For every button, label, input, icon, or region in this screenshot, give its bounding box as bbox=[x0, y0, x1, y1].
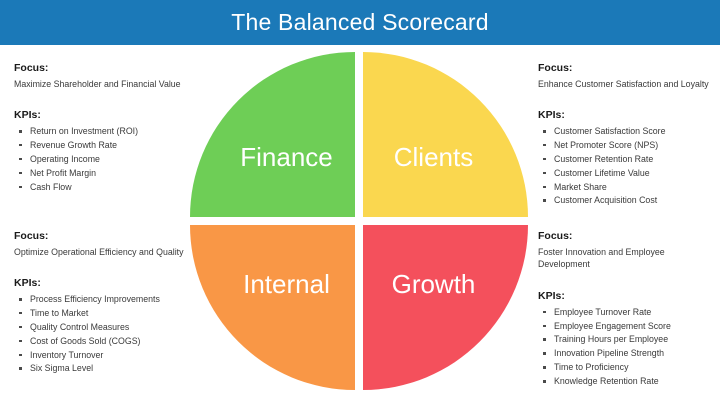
bullet-icon bbox=[543, 366, 546, 369]
kpi-item-label: Inventory Turnover bbox=[30, 350, 103, 360]
kpi-item-label: Quality Control Measures bbox=[30, 322, 129, 332]
panel-finance-focus-heading: Focus: bbox=[14, 62, 192, 75]
kpi-item: Revenue Growth Rate bbox=[14, 139, 192, 153]
panel-growth-focus-heading: Focus: bbox=[538, 230, 716, 243]
kpi-item-label: Time to Proficiency bbox=[554, 362, 628, 372]
kpi-item: Net Profit Margin bbox=[14, 167, 192, 181]
panel-internal-focus-heading: Focus: bbox=[14, 230, 192, 243]
kpi-item-label: Customer Lifetime Value bbox=[554, 168, 650, 178]
kpi-item: Employee Turnover Rate bbox=[538, 306, 716, 320]
kpi-item: Inventory Turnover bbox=[14, 349, 192, 363]
kpi-item-label: Six Sigma Level bbox=[30, 363, 93, 373]
kpi-item: Quality Control Measures bbox=[14, 321, 192, 335]
kpi-item: Customer Satisfaction Score bbox=[538, 125, 716, 139]
bullet-icon bbox=[19, 158, 22, 161]
kpi-item: Customer Retention Rate bbox=[538, 153, 716, 167]
bullet-icon bbox=[19, 312, 22, 315]
kpi-item-label: Time to Market bbox=[30, 308, 88, 318]
bullet-icon bbox=[543, 199, 546, 202]
kpi-item: Cash Flow bbox=[14, 181, 192, 195]
kpi-item-label: Cash Flow bbox=[30, 182, 72, 192]
panel-internal-kpi-list: Process Efficiency ImprovementsTime to M… bbox=[14, 293, 192, 376]
quadrant-finance[interactable]: Finance bbox=[190, 52, 355, 217]
bullet-icon bbox=[19, 172, 22, 175]
kpi-item-label: Revenue Growth Rate bbox=[30, 140, 117, 150]
kpi-item: Process Efficiency Improvements bbox=[14, 293, 192, 307]
panel-clients-focus-heading: Focus: bbox=[538, 62, 716, 75]
kpi-item-label: Cost of Goods Sold (COGS) bbox=[30, 336, 141, 346]
bullet-icon bbox=[19, 298, 22, 301]
kpi-item-label: Net Profit Margin bbox=[30, 168, 96, 178]
panel-clients: Focus: Enhance Customer Satisfaction and… bbox=[538, 62, 716, 208]
kpi-item-label: Employee Turnover Rate bbox=[554, 307, 651, 317]
panel-growth-kpi-list: Employee Turnover RateEmployee Engagemen… bbox=[538, 306, 716, 389]
kpi-item: Market Share bbox=[538, 181, 716, 195]
bullet-icon bbox=[543, 158, 546, 161]
panel-internal-focus-text: Optimize Operational Efficiency and Qual… bbox=[14, 246, 192, 259]
bullet-icon bbox=[543, 380, 546, 383]
kpi-item-label: Net Promoter Score (NPS) bbox=[554, 140, 658, 150]
kpi-item: Innovation Pipeline Strength bbox=[538, 347, 716, 361]
scorecard-stage: Finance Clients Internal Growth Focus: M… bbox=[0, 45, 720, 404]
bullet-icon bbox=[543, 338, 546, 341]
page-title: The Balanced Scorecard bbox=[231, 11, 489, 34]
kpi-item-label: Innovation Pipeline Strength bbox=[554, 348, 664, 358]
kpi-item-label: Knowledge Retention Rate bbox=[554, 376, 659, 386]
panel-growth-kpis-heading: KPIs: bbox=[538, 290, 716, 303]
kpi-item-label: Process Efficiency Improvements bbox=[30, 294, 160, 304]
quadrant-internal-label: Internal bbox=[243, 271, 330, 297]
bullet-icon bbox=[543, 311, 546, 314]
panel-finance-kpis-heading: KPIs: bbox=[14, 109, 192, 122]
bullet-icon bbox=[19, 144, 22, 147]
bullet-icon bbox=[543, 325, 546, 328]
kpi-item: Training Hours per Employee bbox=[538, 333, 716, 347]
bullet-icon bbox=[543, 186, 546, 189]
panel-finance-focus-text: Maximize Shareholder and Financial Value bbox=[14, 78, 192, 91]
kpi-item-label: Customer Acquisition Cost bbox=[554, 195, 657, 205]
kpi-item: Customer Lifetime Value bbox=[538, 167, 716, 181]
panel-growth-focus-text: Foster Innovation and Employee Developme… bbox=[538, 246, 716, 272]
header-bar: The Balanced Scorecard bbox=[0, 0, 720, 45]
kpi-item: Operating Income bbox=[14, 153, 192, 167]
kpi-item: Customer Acquisition Cost bbox=[538, 194, 716, 208]
quadrant-growth-label: Growth bbox=[392, 271, 476, 297]
quadrant-growth[interactable]: Growth bbox=[363, 225, 528, 390]
kpi-item: Time to Proficiency bbox=[538, 361, 716, 375]
kpi-item-label: Customer Retention Rate bbox=[554, 154, 653, 164]
kpi-item-label: Training Hours per Employee bbox=[554, 334, 668, 344]
panel-internal-kpis-heading: KPIs: bbox=[14, 277, 192, 290]
quadrant-finance-label: Finance bbox=[240, 144, 333, 170]
kpi-item: Return on Investment (ROI) bbox=[14, 125, 192, 139]
panel-growth: Focus: Foster Innovation and Employee De… bbox=[538, 230, 716, 389]
bullet-icon bbox=[543, 172, 546, 175]
kpi-item: Net Promoter Score (NPS) bbox=[538, 139, 716, 153]
bullet-icon bbox=[543, 352, 546, 355]
quadrant-clients-label: Clients bbox=[394, 144, 473, 170]
bullet-icon bbox=[19, 354, 22, 357]
kpi-item: Employee Engagement Score bbox=[538, 320, 716, 334]
bullet-icon bbox=[19, 326, 22, 329]
balanced-scorecard-circle: Finance Clients Internal Growth bbox=[190, 52, 528, 390]
bullet-icon bbox=[19, 186, 22, 189]
bullet-icon bbox=[543, 130, 546, 133]
kpi-item: Knowledge Retention Rate bbox=[538, 375, 716, 389]
kpi-item: Time to Market bbox=[14, 307, 192, 321]
panel-finance: Focus: Maximize Shareholder and Financia… bbox=[14, 62, 192, 194]
bullet-icon bbox=[19, 367, 22, 370]
quadrant-internal[interactable]: Internal bbox=[190, 225, 355, 390]
kpi-item: Six Sigma Level bbox=[14, 362, 192, 376]
quadrant-clients[interactable]: Clients bbox=[363, 52, 528, 217]
kpi-item-label: Return on Investment (ROI) bbox=[30, 126, 138, 136]
bullet-icon bbox=[543, 144, 546, 147]
panel-clients-kpi-list: Customer Satisfaction ScoreNet Promoter … bbox=[538, 125, 716, 208]
panel-clients-focus-text: Enhance Customer Satisfaction and Loyalt… bbox=[538, 78, 716, 91]
panel-clients-kpis-heading: KPIs: bbox=[538, 109, 716, 122]
kpi-item-label: Market Share bbox=[554, 182, 607, 192]
panel-internal: Focus: Optimize Operational Efficiency a… bbox=[14, 230, 192, 376]
kpi-item: Cost of Goods Sold (COGS) bbox=[14, 335, 192, 349]
kpi-item-label: Operating Income bbox=[30, 154, 100, 164]
panel-finance-kpi-list: Return on Investment (ROI)Revenue Growth… bbox=[14, 125, 192, 194]
kpi-item-label: Employee Engagement Score bbox=[554, 321, 671, 331]
bullet-icon bbox=[19, 130, 22, 133]
bullet-icon bbox=[19, 340, 22, 343]
kpi-item-label: Customer Satisfaction Score bbox=[554, 126, 665, 136]
